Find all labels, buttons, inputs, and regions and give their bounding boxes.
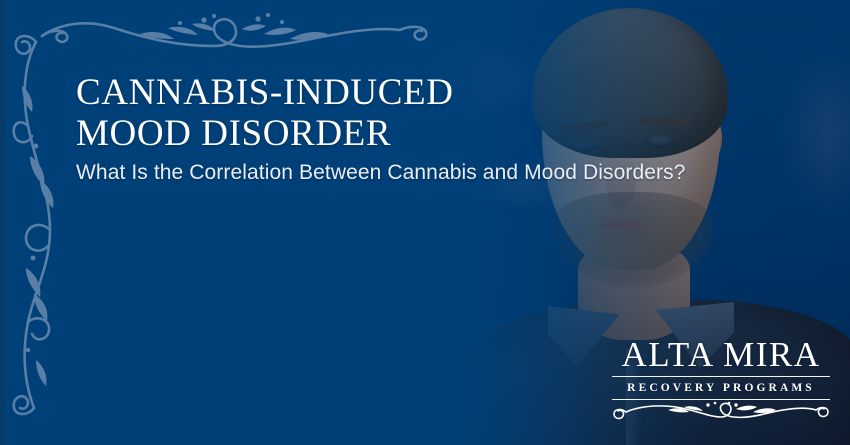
logo-rule-top — [612, 376, 830, 377]
navy-panel — [0, 0, 430, 445]
title-line-2: MOOD DISORDER — [76, 113, 716, 154]
logo-rule-bottom — [612, 399, 830, 400]
logo-flourish-ornament — [612, 401, 830, 427]
page-title: CANNABIS-INDUCED MOOD DISORDER — [76, 72, 716, 154]
logo-tagline: RECOVERY PROGRAMS — [612, 381, 830, 395]
hero-banner: CANNABIS-INDUCED MOOD DISORDER What Is t… — [0, 0, 850, 445]
page-subtitle: What Is the Correlation Between Cannabis… — [76, 160, 716, 186]
title-line-1: CANNABIS-INDUCED — [76, 72, 716, 113]
headline-block: CANNABIS-INDUCED MOOD DISORDER What Is t… — [76, 72, 716, 186]
logo-name: ALTA MIRA — [612, 336, 830, 374]
left-edge-stripe — [0, 0, 5, 445]
brand-logo[interactable]: ALTA MIRA RECOVERY PROGRAMS — [612, 336, 830, 432]
